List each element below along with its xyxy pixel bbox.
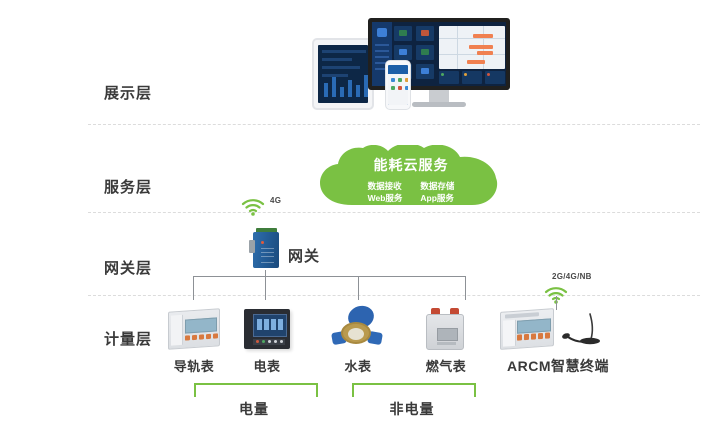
bracket-electrical [194,383,318,397]
divider-gateway-metering [88,295,700,296]
cloud-service-data-storage: 数据存储 [420,180,454,192]
tablet-screen [318,45,368,103]
connector-to-electricity [265,276,266,300]
dashboard-map [439,26,505,69]
phone-screen [388,65,408,105]
cloud-service-web: Web服务 [368,192,403,204]
group-label-electrical: 电量 [194,399,314,419]
meter-label-electricity: 电表 [244,356,290,375]
cloud-title: 能耗云服务 [318,155,504,175]
layer-label-display: 展示层 [104,82,196,103]
group-label-non-electrical: 非电量 [352,399,472,419]
divider-display-service [88,124,700,125]
terminal-network-label: 2G/4G/NB [552,272,592,281]
gateway-device [249,228,283,270]
cloud-service-app: App服务 [420,192,454,204]
gateway-label: 网关 [288,245,320,266]
water-meter-device [332,306,384,348]
architecture-diagram: 展示层 服务层 网关层 计量层 [0,0,715,443]
cloud-services-left: 数据接收 Web服务 [368,180,403,205]
meter-label-water: 水表 [332,356,384,375]
layer-label-gateway: 网关层 [104,257,196,278]
gateway-network-label: 4G [270,196,281,205]
bracket-non-electrical [352,383,476,397]
dashboard-widgets [439,71,505,85]
electricity-meter-device [244,309,290,349]
cloud-service: 能耗云服务 数据接收 Web服务 数据存储 App服务 [318,145,504,207]
din-rail-meter-device [168,310,220,348]
cloud-text-block: 能耗云服务 数据接收 Web服务 数据存储 App服务 [318,145,504,207]
arcm-terminal-device [500,310,554,348]
terminal-label-arcm: ARCM智慧终端 [498,356,618,376]
tablet-device [312,38,374,110]
cloud-services-right: 数据存储 App服务 [420,180,454,205]
meter-label-din-rail: 导轨表 [168,356,220,375]
cloud-service-data-receive: 数据接收 [368,180,403,192]
wifi-signal-icon [240,196,266,216]
meter-label-gas: 燃气表 [418,356,474,375]
monitor-stand-neck [429,90,449,102]
connector-to-gas [465,276,466,300]
gas-meter-device [424,308,466,350]
divider-service-gateway [88,212,700,213]
connector-to-water [358,276,359,300]
monitor-stand-base [412,102,466,107]
connector-to-din-rail [193,276,194,300]
antenna-icon [560,310,602,348]
phone-app-body [388,74,408,105]
layer-label-service: 服务层 [104,176,196,197]
connector-terminal-uplink [556,296,557,310]
smartphone-device [385,60,411,110]
connector-bus [193,276,465,277]
